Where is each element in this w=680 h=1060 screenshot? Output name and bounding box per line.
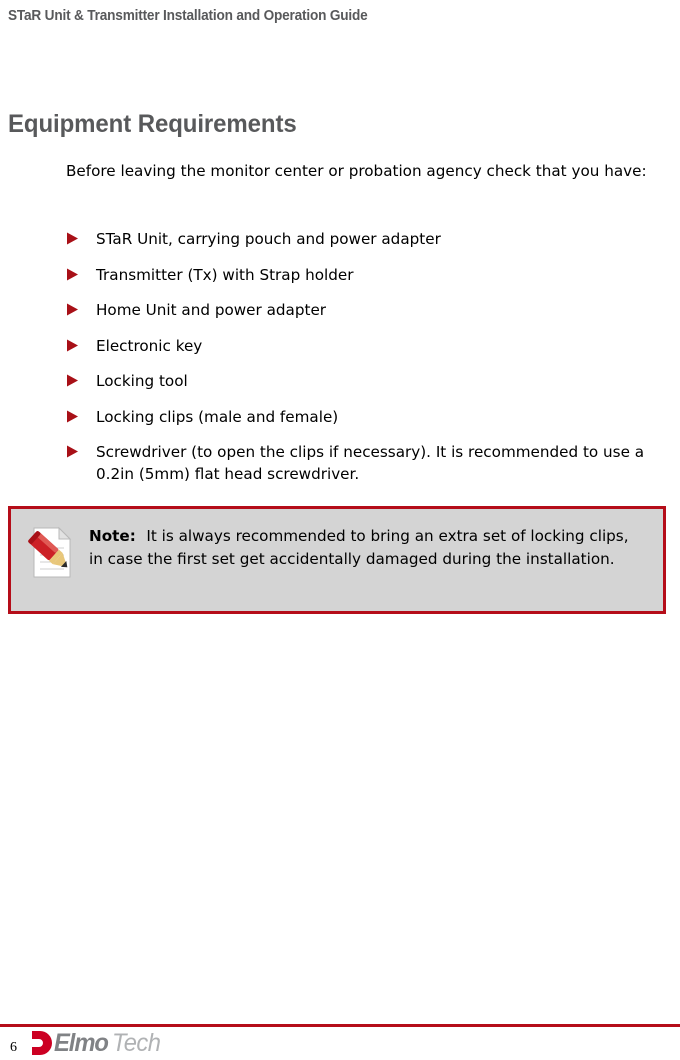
triangle-right-icon [66, 299, 96, 316]
brand-logo: Elmo Tech [30, 1028, 163, 1058]
triangle-right-icon [66, 264, 96, 281]
note-body: It is always recommended to bring an ext… [89, 527, 629, 568]
triangle-right-icon [66, 406, 96, 423]
list-item-label: Screwdriver (to open the clips if necess… [96, 441, 666, 485]
triangle-right-icon [66, 335, 96, 352]
list-item: Electronic key [66, 335, 666, 357]
logo-secondary-text: Tech [112, 1029, 160, 1058]
equipment-requirements-list: STaR Unit, carrying pouch and power adap… [66, 228, 666, 499]
triangle-right-icon [66, 441, 96, 458]
page-title: Equipment Requirements [8, 110, 297, 139]
list-item-label: Locking tool [96, 370, 666, 392]
list-item: Home Unit and power adapter [66, 299, 666, 321]
running-header-title: STaR Unit & Transmitter Installation and… [8, 8, 368, 24]
logo-primary-text: Elmo [54, 1029, 108, 1058]
triangle-right-icon [66, 228, 96, 245]
note-label: Note: [89, 527, 146, 545]
triangle-right-icon [66, 370, 96, 387]
list-item: Screwdriver (to open the clips if necess… [66, 441, 666, 485]
list-item-label: Electronic key [96, 335, 666, 357]
intro-paragraph: Before leaving the monitor center or pro… [66, 160, 656, 183]
list-item-label: Locking clips (male and female) [96, 406, 666, 428]
footer-divider [0, 1024, 680, 1027]
pencil-note-icon [11, 509, 89, 581]
elmotech-arc-icon [30, 1030, 53, 1056]
note-callout: Note:It is always recommended to bring a… [8, 506, 666, 614]
page-number: 6 [10, 1040, 17, 1056]
list-item: Locking tool [66, 370, 666, 392]
list-item-label: Home Unit and power adapter [96, 299, 666, 321]
note-text: Note:It is always recommended to bring a… [89, 509, 663, 570]
list-item: Transmitter (Tx) with Strap holder [66, 264, 666, 286]
list-item-label: STaR Unit, carrying pouch and power adap… [96, 228, 666, 250]
list-item-label: Transmitter (Tx) with Strap holder [96, 264, 666, 286]
list-item: Locking clips (male and female) [66, 406, 666, 428]
list-item: STaR Unit, carrying pouch and power adap… [66, 228, 666, 250]
